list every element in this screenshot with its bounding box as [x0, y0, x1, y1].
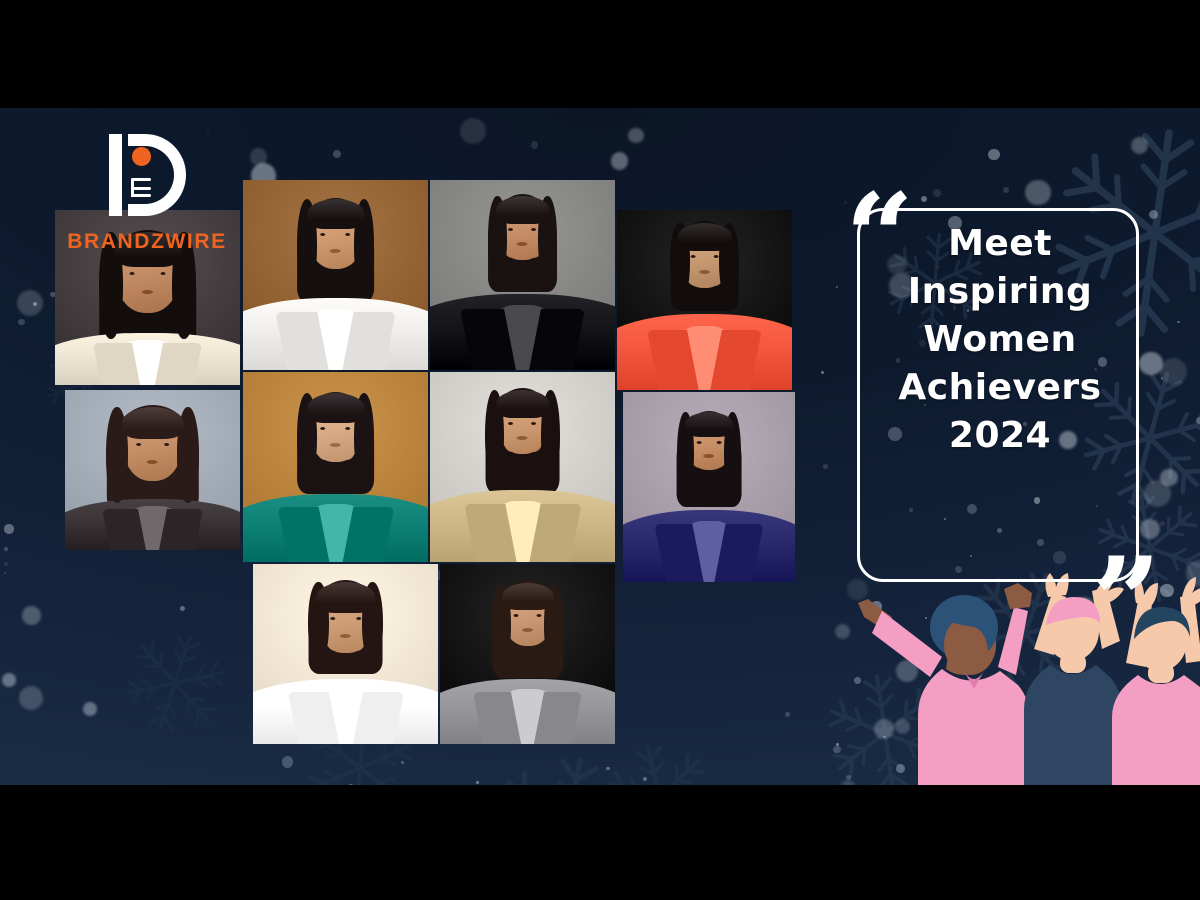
- photo-center-bot-left[interactable]: [253, 564, 438, 744]
- photo-eye-right: [356, 617, 361, 620]
- bokeh-dot: [401, 761, 404, 764]
- photo-center-mid-right[interactable]: [430, 372, 615, 562]
- figure-left: [858, 583, 1032, 785]
- photo-eye-left: [509, 228, 514, 231]
- logomark-dot: [132, 147, 151, 166]
- bokeh-dot: [833, 746, 841, 754]
- headline-line-5: 2024: [863, 412, 1137, 460]
- bokeh-dot: [19, 686, 43, 710]
- headline-card: “ ” Meet Inspiring Women Achievers 2024: [845, 186, 1155, 606]
- photo-eye-right: [346, 233, 351, 236]
- women-achievers-photo-collage: [55, 180, 815, 750]
- bokeh-dot: [531, 141, 539, 149]
- photo-eye-right: [164, 443, 169, 446]
- photo-eye-left: [136, 443, 141, 446]
- headline-line-4: Achievers: [863, 364, 1137, 412]
- photo-center-top-left[interactable]: [243, 180, 428, 370]
- photo-hair-top: [501, 583, 553, 610]
- bokeh-dot: [460, 118, 486, 144]
- brand-logo[interactable]: BRANDZWIRE: [62, 134, 232, 254]
- bokeh-dot: [333, 150, 341, 158]
- photo-center-bot-right[interactable]: [440, 564, 615, 744]
- letterbox-top: [0, 0, 1200, 108]
- bokeh-dot: [823, 464, 828, 469]
- page-title: Meet Inspiring Women Achievers 2024: [863, 220, 1137, 459]
- logomark-stem: [109, 134, 122, 216]
- photo-right-top[interactable]: [617, 210, 792, 390]
- logomark-bowl: [128, 134, 186, 216]
- bokeh-dot: [18, 319, 25, 326]
- bokeh-dot: [4, 524, 13, 533]
- photo-center-mid-left[interactable]: [243, 372, 428, 562]
- bokeh-dot: [250, 148, 267, 165]
- quote-close-mark: ”: [1092, 542, 1161, 662]
- bokeh-dot: [628, 128, 643, 143]
- bokeh-dot: [1161, 377, 1164, 380]
- photo-mouth: [340, 634, 351, 638]
- photo-center-top-right[interactable]: [430, 180, 615, 370]
- photo-right-bottom[interactable]: [623, 392, 795, 582]
- photo-hair-top: [496, 390, 549, 418]
- bokeh-dot: [1160, 521, 1165, 526]
- bokeh-dot: [836, 743, 839, 746]
- photo-hair-top: [685, 412, 733, 437]
- photo-eye-left: [320, 233, 325, 236]
- photo-hair-top: [677, 223, 731, 251]
- bokeh-dot: [643, 777, 647, 781]
- bokeh-dot: [821, 371, 824, 374]
- photo-eye-left: [696, 441, 701, 444]
- photo-mouth: [522, 628, 533, 632]
- photo-eye-right: [531, 228, 536, 231]
- photo-eye-left: [509, 422, 514, 425]
- photo-eye-right: [346, 427, 351, 430]
- photo-mouth: [147, 460, 158, 464]
- bokeh-dot: [1196, 417, 1200, 424]
- bokeh-dot: [2, 673, 16, 687]
- bokeh-dot: [611, 152, 628, 169]
- bokeh-dot: [476, 781, 479, 784]
- photo-hair-top: [496, 196, 549, 224]
- photo-eye-right: [714, 255, 719, 258]
- photo-mouth: [142, 290, 153, 294]
- bokeh-dot: [4, 547, 8, 551]
- photo-hair-top: [122, 407, 184, 439]
- photo-eye-left: [130, 272, 135, 275]
- photo-eye-right: [717, 441, 722, 444]
- poster-root: BRANDZWIRE: [0, 0, 1200, 900]
- bokeh-dot: [4, 562, 7, 565]
- headline-line-1: Meet: [863, 220, 1137, 268]
- photo-mouth: [699, 270, 710, 274]
- letterbox-bottom: [0, 785, 1200, 900]
- bokeh-dot: [836, 286, 838, 288]
- photo-mouth: [330, 443, 341, 447]
- photo-hair-top: [316, 582, 375, 613]
- brand-wordmark: BRANDZWIRE: [67, 230, 226, 254]
- headline-line-2: Inspiring: [863, 268, 1137, 316]
- photo-lapel-left: [93, 343, 140, 385]
- logomark-inner-b: [131, 178, 151, 200]
- bokeh-dot: [4, 572, 7, 575]
- photo-mouth: [704, 454, 715, 458]
- photo-eye-right: [536, 614, 541, 617]
- bokeh-dot: [17, 290, 43, 316]
- headline-line-3: Women: [863, 316, 1137, 364]
- brandzwire-b-logomark: [105, 134, 189, 216]
- photo-eye-right: [160, 272, 165, 275]
- photo-eye-left: [320, 427, 325, 430]
- poster-canvas: BRANDZWIRE: [0, 108, 1200, 785]
- photo-mouth: [330, 249, 341, 253]
- bokeh-dot: [988, 149, 999, 160]
- photo-eye-left: [690, 255, 695, 258]
- photo-hair-top: [307, 393, 364, 423]
- bokeh-dot: [282, 756, 294, 768]
- bokeh-dot: [1131, 137, 1148, 154]
- photo-eye-left: [330, 617, 335, 620]
- photo-mouth: [517, 242, 528, 246]
- photo-hair-top: [307, 199, 364, 229]
- bokeh-dot: [1160, 358, 1187, 385]
- bokeh-dot: [1177, 321, 1179, 323]
- photo-mouth: [517, 436, 528, 440]
- photo-eye-right: [531, 422, 536, 425]
- photo-left-bottom[interactable]: [65, 390, 240, 550]
- bokeh-dot: [22, 606, 41, 625]
- bokeh-dot: [1160, 469, 1177, 486]
- bokeh-dot: [33, 302, 37, 306]
- photo-eye-left: [514, 614, 519, 617]
- bokeh-dot: [606, 767, 609, 770]
